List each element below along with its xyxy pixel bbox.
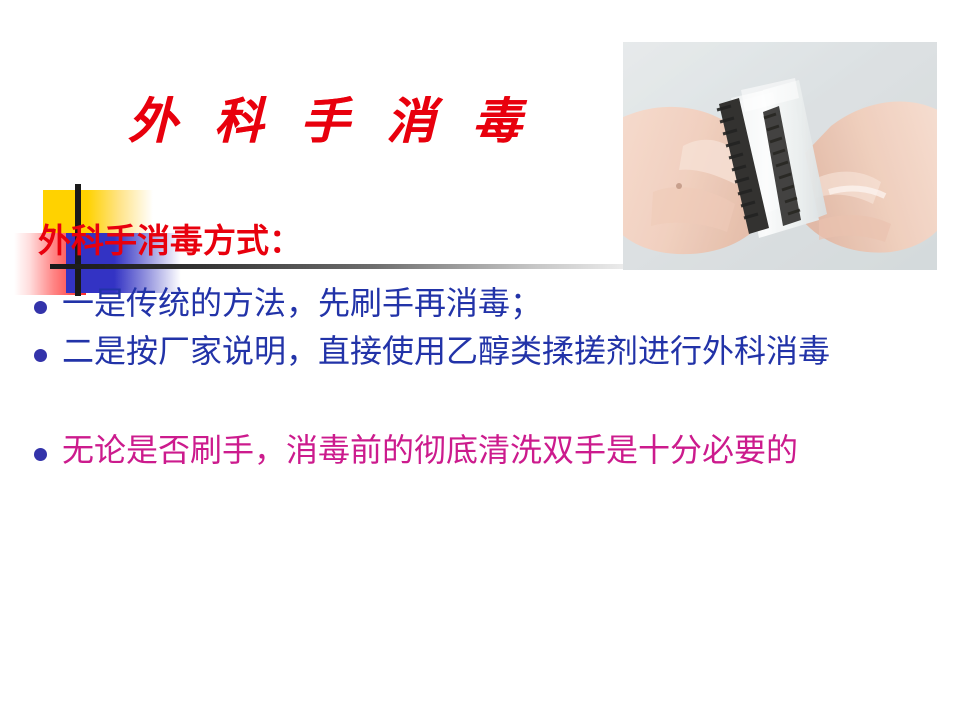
- list-item-label: 一是传统的方法，先刷手再消毒；: [62, 283, 542, 325]
- bullet-list: 一是传统的方法，先刷手再消毒； 二是按厂家说明，直接使用乙醇类揉搓剂进行外科消毒…: [34, 283, 834, 478]
- bullet-spacer: [34, 378, 834, 430]
- slide-canvas: 外 科 手 消 毒: [0, 0, 960, 720]
- list-item: 二是按厂家说明，直接使用乙醇类揉搓剂进行外科消毒: [34, 331, 834, 373]
- hand-scrub-brush-photo: [623, 42, 937, 270]
- body-heading: 外科手消毒方式：: [38, 222, 302, 260]
- horizontal-rule-decoration: [50, 264, 640, 269]
- bullet-dot-icon: [34, 448, 47, 461]
- photo-artwork: [623, 42, 937, 270]
- list-item: 无论是否刷手，消毒前的彻底清洗双手是十分必要的: [34, 430, 834, 472]
- bullet-dot-icon: [34, 301, 47, 314]
- list-item-label: 二是按厂家说明，直接使用乙醇类揉搓剂进行外科消毒: [62, 331, 830, 373]
- slide-title: 外 科 手 消 毒: [128, 97, 531, 146]
- bullet-dot-icon: [34, 349, 47, 362]
- list-item-label: 无论是否刷手，消毒前的彻底清洗双手是十分必要的: [62, 430, 798, 472]
- list-item: 一是传统的方法，先刷手再消毒；: [34, 283, 834, 325]
